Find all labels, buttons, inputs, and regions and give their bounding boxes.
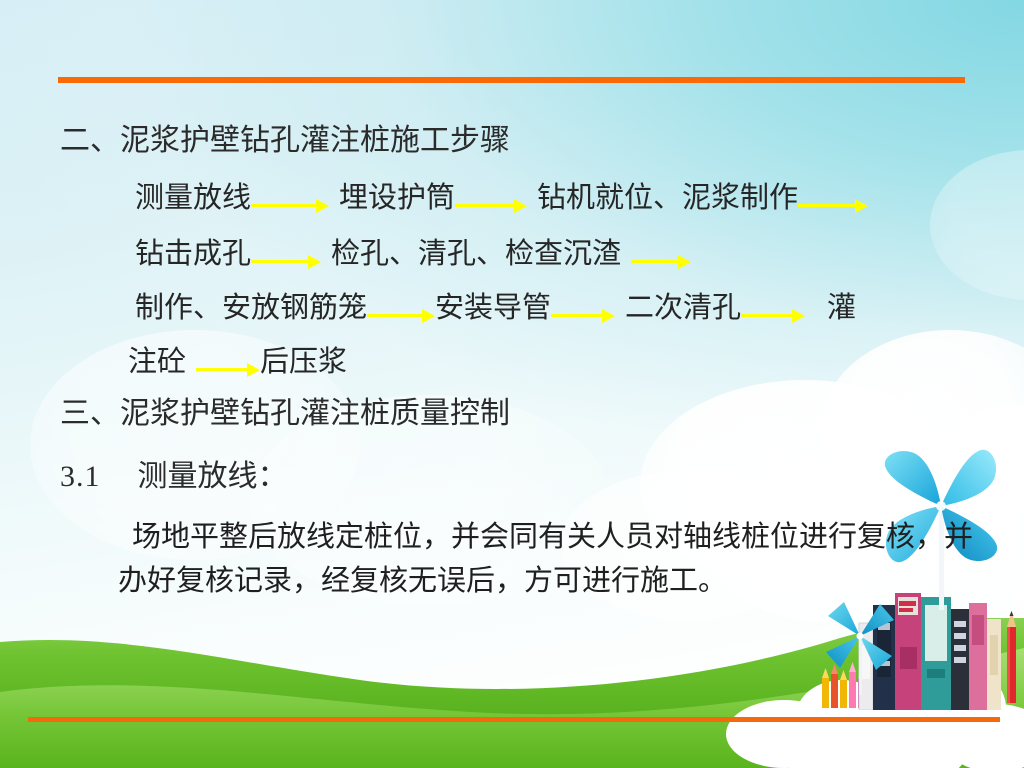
body-paragraph: 场地平整后放线定桩位，并会同有关人员对轴线桩位进行复核，并办好复核记录，经复核无…: [118, 515, 974, 603]
process-flow-row-2: 钻击成孔 检孔、清孔、检查沉渣: [135, 240, 691, 269]
flow-node: 埋设护筒: [339, 184, 455, 213]
process-flow-row-4: 注砼 后压浆: [128, 348, 347, 377]
arrow-right-icon: [367, 306, 435, 326]
arrow-right-icon: [455, 196, 527, 216]
flow-node: 灌: [827, 294, 856, 323]
item-title: 测量放线：: [138, 460, 288, 493]
arrow-right-icon: [551, 306, 615, 326]
flow-node: 制作、安放钢筋笼: [135, 294, 367, 323]
flow-node: 测量放线: [135, 184, 251, 213]
slide-content: 二、泥浆护壁钻孔灌注桩施工步骤 测量放线 埋设护筒 钻机就位、泥浆制作 钻击成孔: [0, 0, 1024, 768]
arrow-right-icon: [251, 252, 321, 272]
arrow-right-icon: [798, 196, 868, 216]
heading-section-three: 三、泥浆护壁钻孔灌注桩质量控制: [60, 399, 510, 429]
flow-node: 钻击成孔: [135, 240, 251, 269]
arrow-right-icon: [196, 360, 260, 380]
arrow-right-icon: [251, 196, 329, 216]
flow-node: 二次清孔: [625, 294, 741, 323]
arrow-right-icon: [631, 252, 691, 272]
heading-item-3-1: 3.1 测量放线：: [60, 462, 288, 492]
flow-node: 检孔、清孔、检查沉渣: [331, 240, 621, 269]
heading-section-two: 二、泥浆护壁钻孔灌注桩施工步骤: [60, 126, 510, 156]
flow-node: 安装导管: [435, 294, 551, 323]
process-flow-row-3: 制作、安放钢筋笼 安装导管 二次清孔 灌: [135, 294, 856, 323]
process-flow-row-1: 测量放线 埋设护筒 钻机就位、泥浆制作: [135, 184, 868, 213]
flow-node: 钻机就位、泥浆制作: [537, 184, 798, 213]
flow-node: 注砼: [128, 348, 186, 377]
item-number: 3.1: [60, 460, 101, 493]
arrow-right-icon: [741, 306, 805, 326]
flow-node: 后压浆: [260, 348, 347, 377]
slide-canvas: 二、泥浆护壁钻孔灌注桩施工步骤 测量放线 埋设护筒 钻机就位、泥浆制作 钻击成孔: [0, 0, 1024, 768]
